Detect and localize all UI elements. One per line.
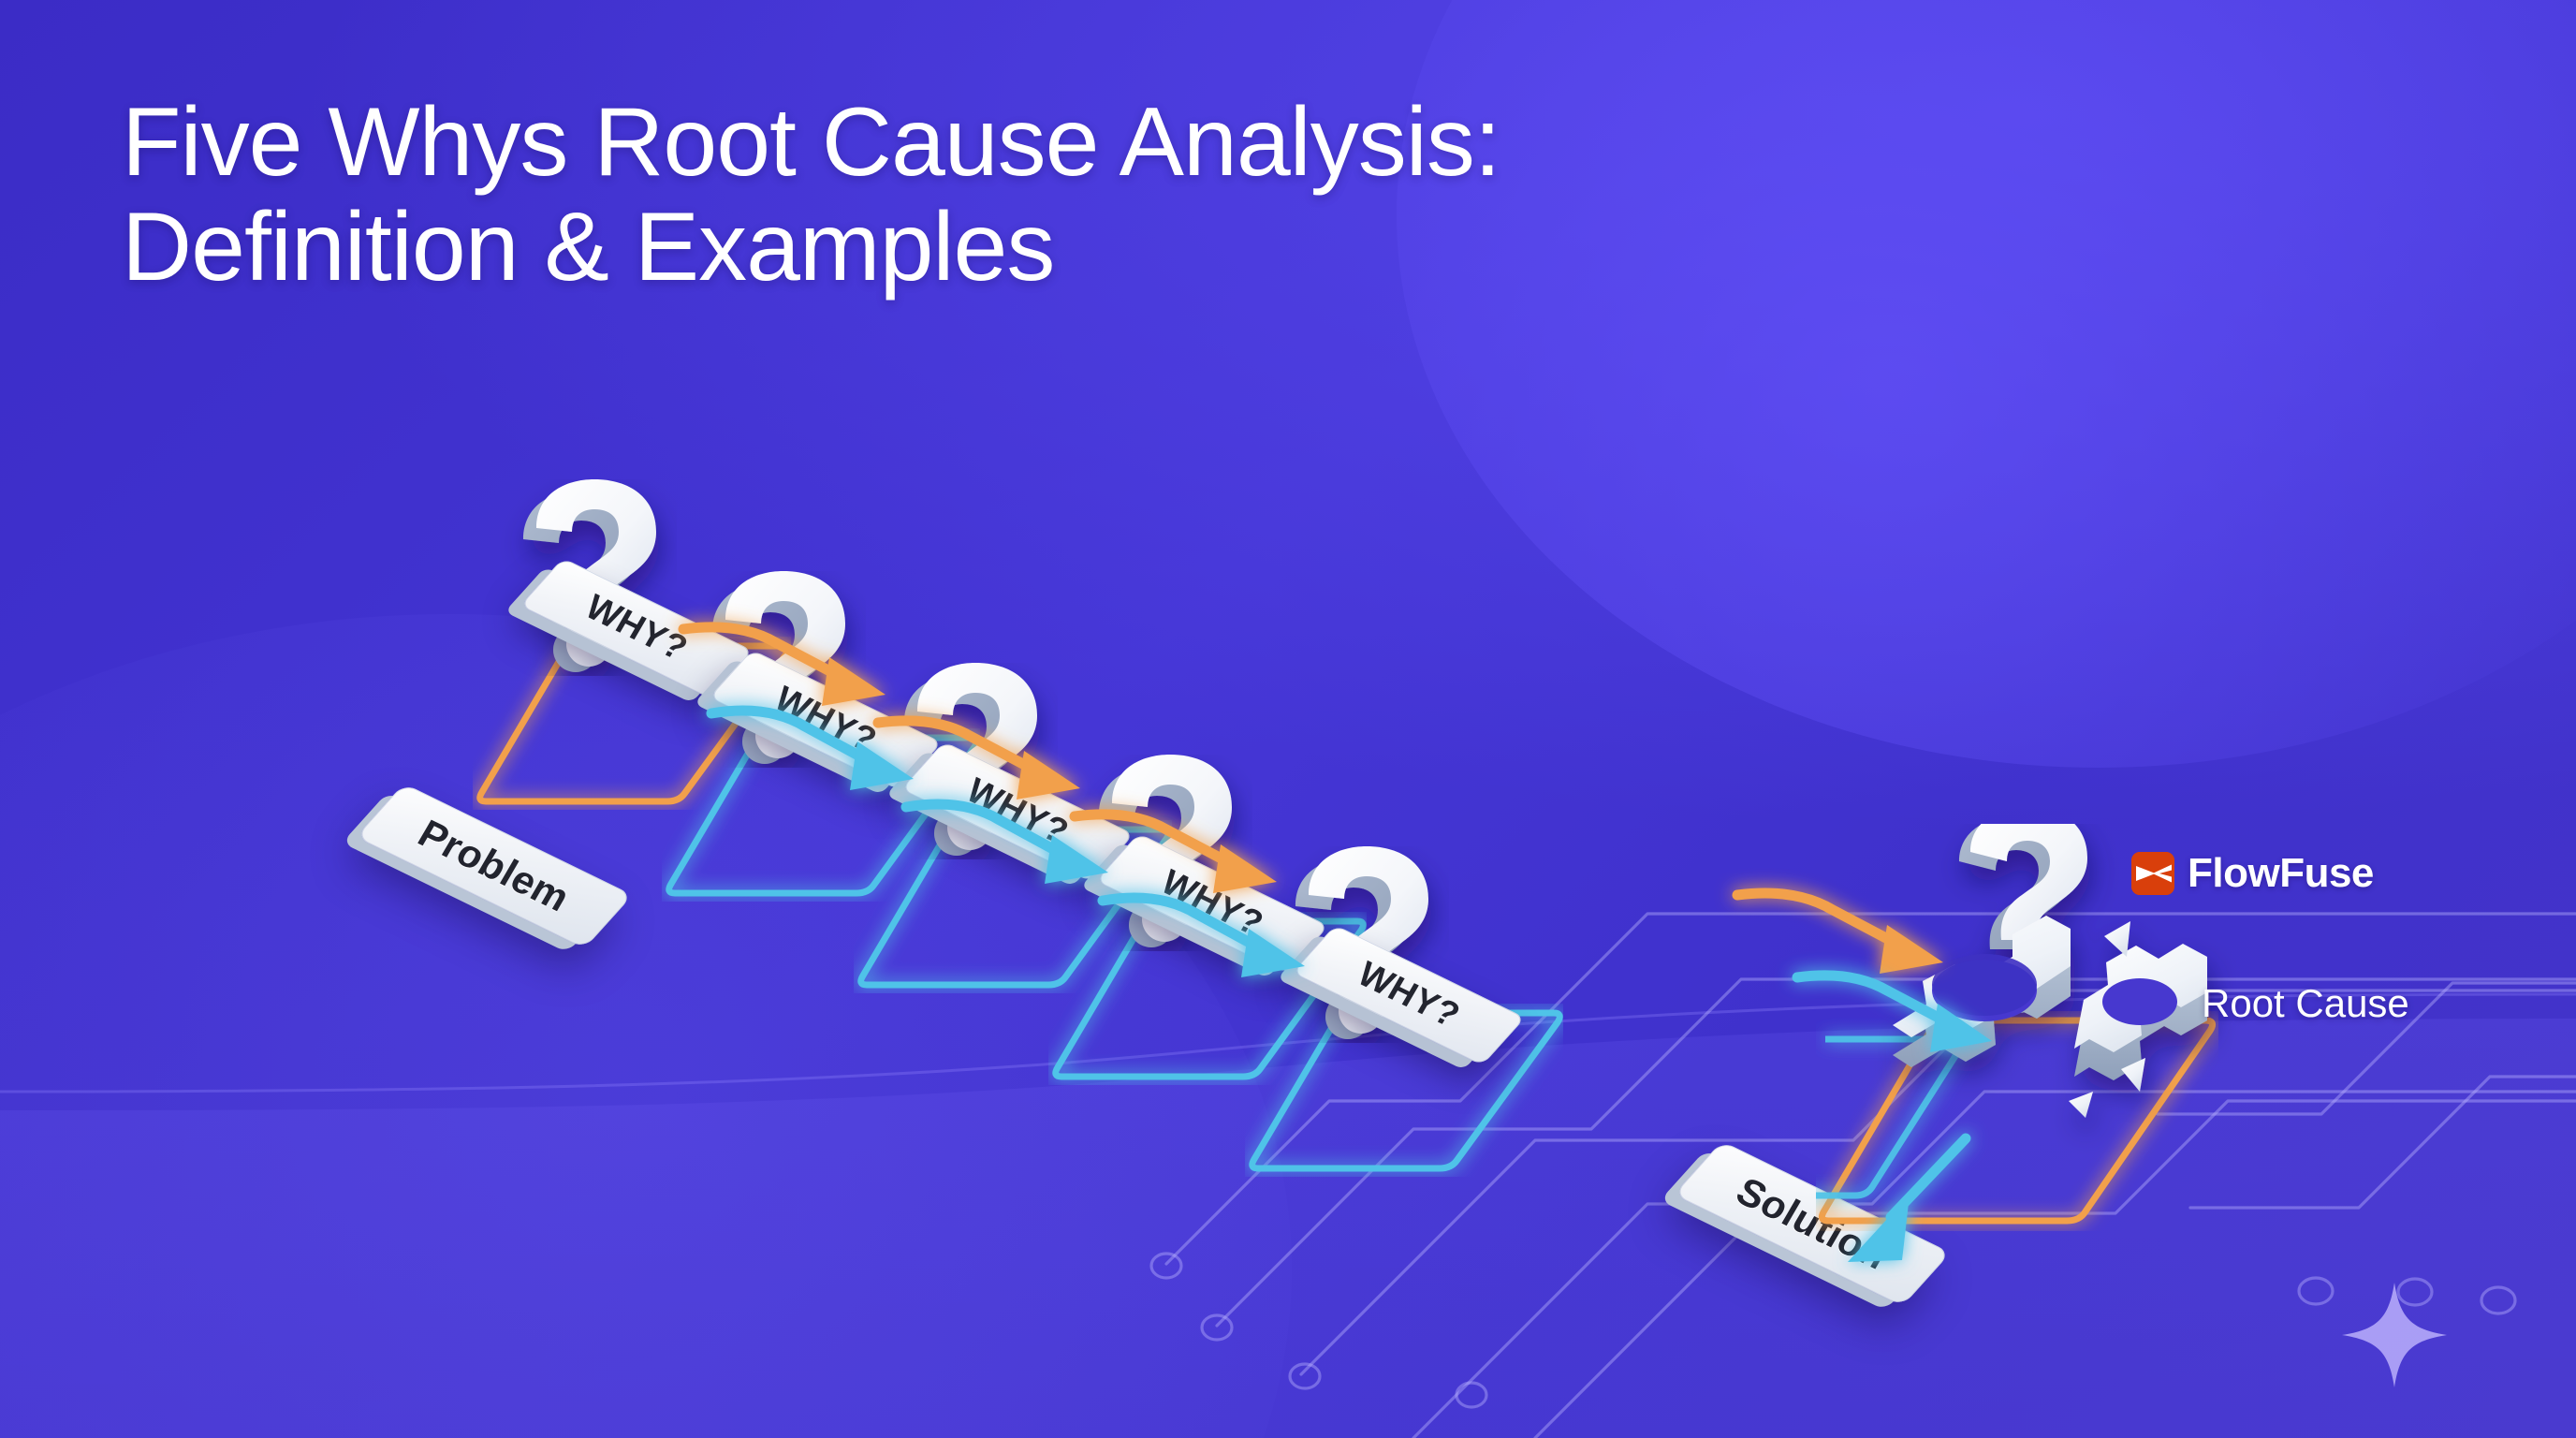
flowfuse-logo-mark-icon <box>2131 852 2174 895</box>
five-whys-diagram: Problem WHY? <box>0 0 2576 1438</box>
flowfuse-logo[interactable]: FlowFuse <box>2131 850 2374 897</box>
problem-label: Problem <box>411 812 578 921</box>
root-cause-label: Root Cause <box>2202 981 2409 1026</box>
flowfuse-logo-text: FlowFuse <box>2188 850 2374 897</box>
flowfuse-chevron-icon <box>2131 852 2174 895</box>
banner-canvas: Five Whys Root Cause Analysis: Definitio… <box>0 0 2576 1438</box>
